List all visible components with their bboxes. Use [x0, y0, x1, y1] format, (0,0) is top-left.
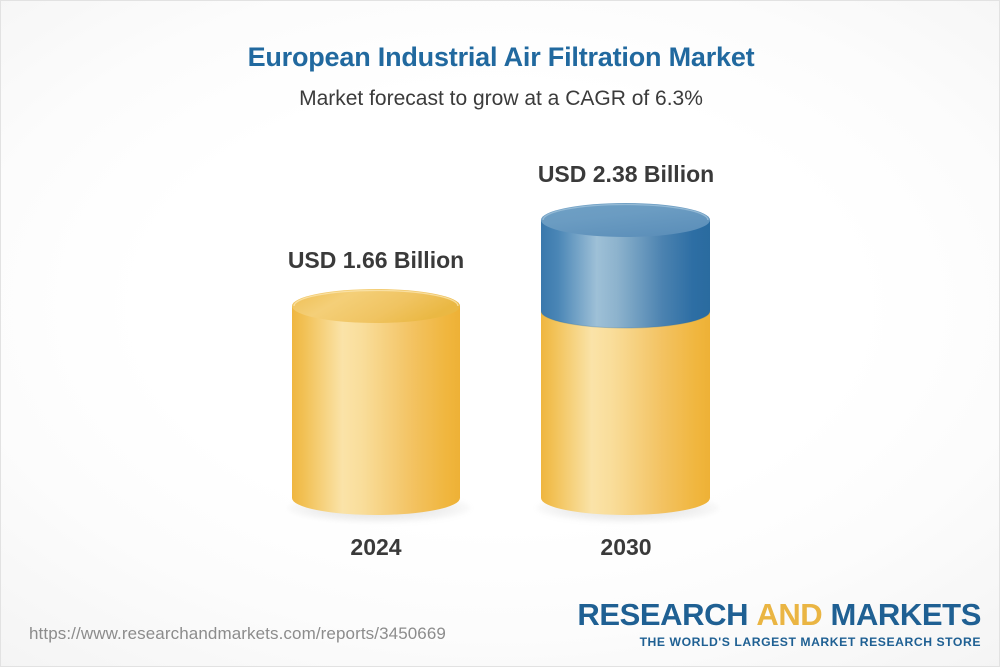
bar-cylinder-2030-svg [541, 203, 710, 515]
bar-value-label-2030: USD 2.38 Billion [466, 161, 786, 188]
infographic-canvas: European Industrial Air Filtration Marke… [0, 0, 1000, 667]
research-and-markets-logo[interactable]: RESEARCH AND MARKETS THE WORLD'S LARGEST… [577, 599, 981, 648]
logo-word-markets: MARKETS [831, 597, 981, 632]
logo-wordmark: RESEARCH AND MARKETS [577, 599, 981, 630]
chart-plot-area: USD 1.66 Billion [1, 1, 1000, 667]
bar-cylinder-2024-svg [292, 289, 460, 515]
logo-word-research: RESEARCH [577, 597, 748, 632]
bar-value-label-2024: USD 1.66 Billion [216, 247, 536, 274]
bar-cylinder-2030 [541, 203, 710, 515]
report-url[interactable]: https://www.researchandmarkets.com/repor… [29, 624, 446, 644]
bar-cylinder-2024 [292, 289, 460, 515]
logo-word-and: AND [756, 597, 822, 632]
logo-tagline: THE WORLD'S LARGEST MARKET RESEARCH STOR… [577, 630, 981, 648]
bar-category-label-2030: 2030 [466, 534, 786, 561]
